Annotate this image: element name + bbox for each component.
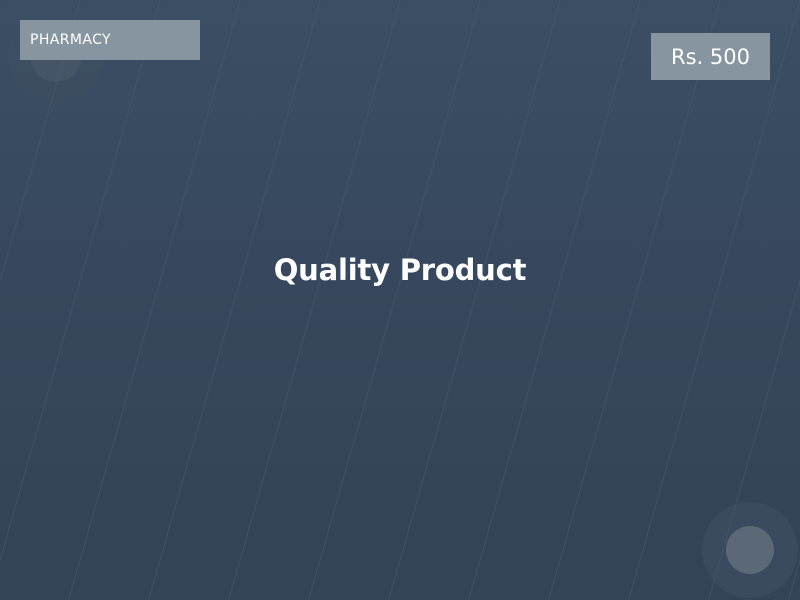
diagonal-stripes-pattern: [0, 0, 800, 600]
product-promo-slide: PHARMACY Rs. 500 Quality Product: [0, 0, 800, 600]
circle-inner-disc: [726, 526, 774, 574]
category-badge-label: PHARMACY: [30, 32, 111, 48]
concentric-circles-decoration-bottom-right: [702, 502, 798, 598]
category-badge[interactable]: PHARMACY: [20, 20, 200, 60]
price-badge-label: Rs. 500: [671, 45, 750, 69]
circle-outer-ring: [702, 502, 798, 598]
product-title: Quality Product: [0, 252, 800, 288]
price-badge[interactable]: Rs. 500: [651, 33, 770, 80]
